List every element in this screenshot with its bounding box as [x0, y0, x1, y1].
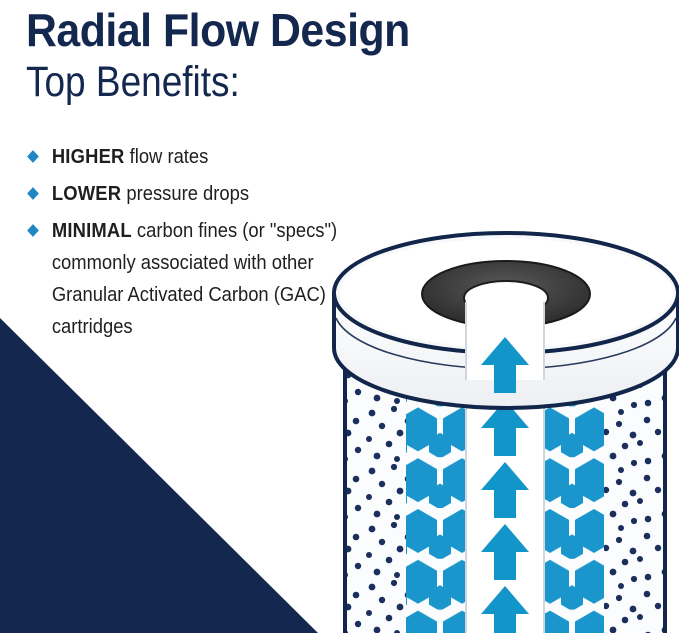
list-item: HIGHER flow rates — [27, 141, 377, 173]
diamond-bullet-icon — [27, 187, 39, 200]
carbon-block-honeycomb — [406, 372, 604, 633]
rubber-gasket-ring — [422, 261, 590, 327]
benefit-keyword: LOWER — [52, 183, 121, 205]
page-title: Radial Flow Design — [26, 4, 528, 56]
header-block: Radial Flow Design Top Benefits: — [26, 4, 566, 106]
diamond-bullet-icon — [27, 224, 39, 237]
upward-flow-arrow — [481, 337, 529, 393]
center-flow-channel — [466, 300, 544, 633]
benefits-list: HIGHER flow rates LOWER pressure drops M… — [27, 141, 407, 348]
list-item: LOWER pressure drops — [27, 178, 377, 210]
benefit-text: pressure drops — [121, 183, 249, 205]
diamond-bullet-icon — [27, 150, 39, 163]
list-item: MINIMAL carbon fines (or "specs") common… — [27, 215, 377, 343]
benefit-keyword: MINIMAL — [52, 220, 132, 242]
benefit-text: flow rates — [125, 146, 209, 168]
benefit-keyword: HIGHER — [52, 146, 125, 168]
core-opening-overlay — [466, 300, 544, 380]
page-subtitle: Top Benefits: — [26, 58, 490, 106]
upward-flow-arrow — [481, 337, 529, 633]
poster-canvas: Radial Flow Design Top Benefits: HIGHER … — [0, 0, 679, 633]
carbon-fines-dots — [344, 372, 666, 633]
cartridge-body — [344, 368, 666, 633]
